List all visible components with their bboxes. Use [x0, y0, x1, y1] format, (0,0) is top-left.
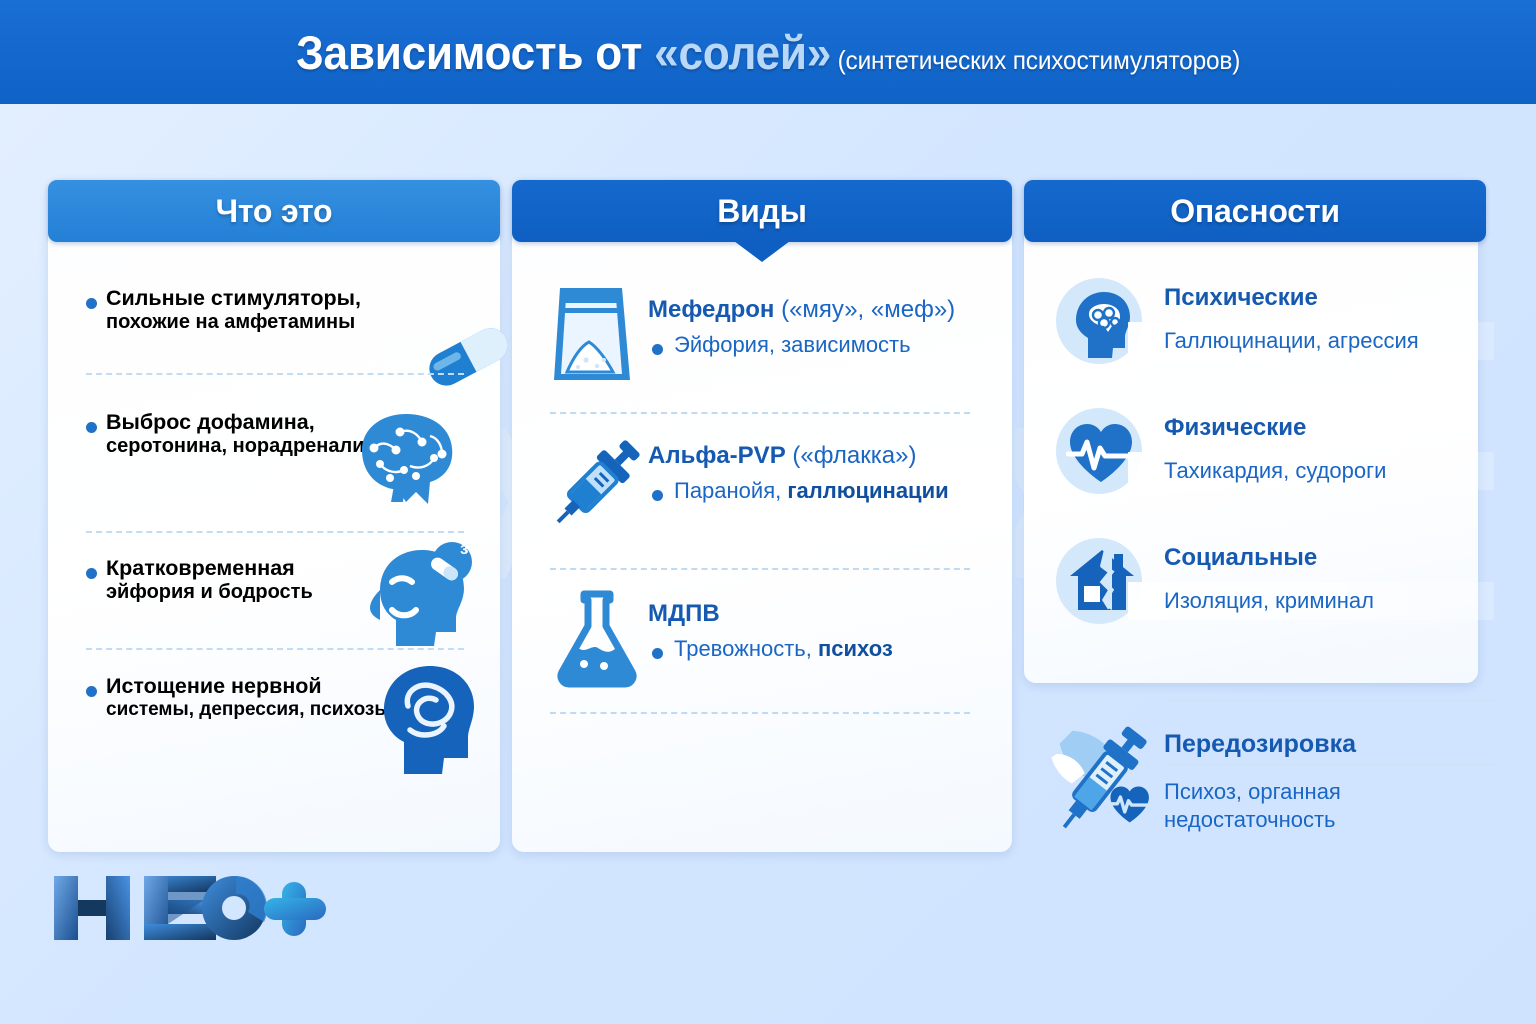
heart-pulse-icon: [1066, 420, 1136, 486]
svg-text:з: з: [460, 539, 468, 558]
separator: [550, 712, 970, 714]
type-sub-bold: галлюцинации: [787, 478, 948, 503]
card-header-what-is-it: Что это: [48, 180, 500, 242]
overdose-sub-line1: Психоз, органная: [1164, 779, 1341, 804]
bullet-dot-icon: [86, 422, 97, 433]
type-title-bold: МДПВ: [648, 600, 720, 627]
pill-capsule-icon: [418, 320, 518, 392]
syringe-heart-icon: [1034, 710, 1174, 840]
type-sub-plain: Паранойя,: [674, 478, 787, 503]
infographic-page: Зависимость от «солей» (синтетических пс…: [0, 0, 1536, 1024]
types-list: Мефедрон («мяу», «меф») Эйфория, зависим…: [512, 242, 1012, 852]
danger-title: Физические: [1164, 414, 1306, 442]
separator: [86, 531, 464, 533]
title-subtitle: (синтетических психостимуляторов): [831, 45, 1240, 75]
separator: [550, 568, 970, 570]
card-title-dangers: Опасности: [1170, 193, 1340, 230]
type-subtitle: Тревожность, психоз: [674, 636, 893, 662]
overdose-subtitle: Психоз, органная недостаточность: [1164, 778, 1484, 834]
bullet-dot-icon: [652, 490, 663, 501]
type-sub-bold: психоз: [818, 636, 893, 661]
powder-bag-icon: [542, 282, 642, 388]
separator: [86, 648, 464, 650]
flask-icon: [548, 586, 648, 692]
type-title-bold: Мефедрон: [648, 296, 774, 323]
type-title: Мефедрон («мяу», «меф»): [648, 296, 955, 324]
brand-logo: [48, 868, 348, 948]
head-tangled-brain-icon: [366, 654, 486, 778]
card-title-what-is-it: Что это: [216, 193, 333, 230]
head-sleepy-pill-icon: з: [360, 538, 480, 654]
danger-subtitle: Тахикардия, судороги: [1164, 458, 1386, 484]
title-part1: Зависимость от: [296, 26, 654, 79]
danger-subtitle: Изоляция, криминал: [1164, 588, 1374, 614]
card-header-dangers: Опасности: [1024, 180, 1486, 242]
list-item-line1: Сильные стимуляторы,: [106, 286, 426, 311]
bullet-dot-icon: [652, 648, 663, 659]
type-title-light: («мяу», «меф»): [774, 296, 955, 323]
type-title-light: («флакка»): [786, 442, 917, 469]
page-title: Зависимость от «солей» (синтетических пс…: [296, 25, 1240, 80]
danger-title: Социальные: [1164, 544, 1317, 572]
separator: [550, 412, 970, 414]
type-sub-plain: Эйфория, зависимость: [674, 332, 911, 357]
danger-subtitle: Галлюцинации, агрессия: [1164, 328, 1419, 354]
overdose-title: Передозировка: [1164, 730, 1356, 759]
separator: [86, 373, 464, 375]
type-subtitle: Паранойя, галлюцинации: [674, 478, 949, 504]
type-title-bold: Альфа-PVP: [648, 442, 786, 469]
title-accent: «солей»: [654, 26, 831, 79]
overdose-sub-line2: недостаточность: [1164, 807, 1336, 832]
card-header-types: Виды: [512, 180, 1012, 242]
type-title: Альфа-PVP («флакка»): [648, 442, 917, 470]
what-is-it-list: Сильные стимуляторы, похожие на амфетами…: [48, 242, 500, 852]
type-subtitle: Эйфория, зависимость: [674, 332, 911, 358]
syringe-icon: [542, 428, 652, 538]
overdose-block: Передозировка Психоз, органная недостато…: [1024, 692, 1494, 872]
bullet-dot-icon: [86, 568, 97, 579]
page-banner: Зависимость от «солей» (синтетических пс…: [0, 0, 1536, 104]
type-sub-plain: Тревожность,: [674, 636, 818, 661]
bullet-dot-icon: [652, 344, 663, 355]
separator: [1164, 700, 1494, 702]
bullet-dot-icon: [86, 298, 97, 309]
danger-title: Психические: [1164, 284, 1318, 312]
bullet-dot-icon: [86, 686, 97, 697]
separator: [1164, 764, 1494, 766]
card-title-types: Виды: [717, 193, 807, 230]
list-item-line2: похожие на амфетамины: [106, 311, 426, 334]
brain-network-icon: [340, 402, 470, 512]
type-title: МДПВ: [648, 600, 720, 628]
